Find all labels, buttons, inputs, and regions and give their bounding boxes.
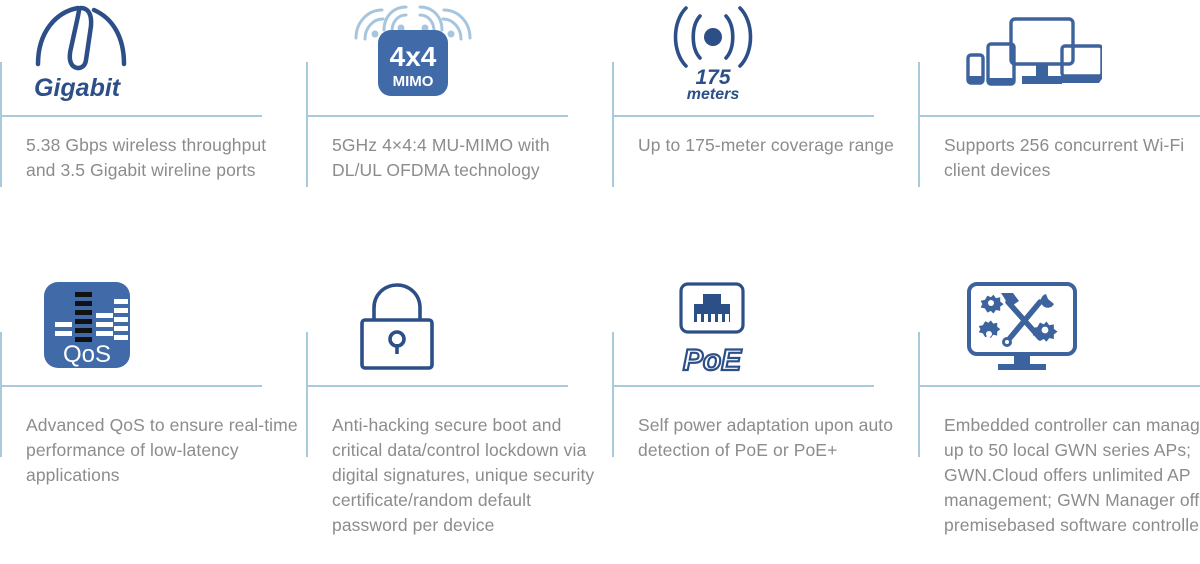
horizontal-divider <box>918 385 1200 387</box>
horizontal-divider <box>306 115 568 117</box>
feature-description: 5GHz 4×4:4 MU-MIMO with DL/UL OFDMA tech… <box>332 133 604 183</box>
feature-card-clients: Supports 256 concurrent Wi-Fi client dev… <box>918 0 1200 270</box>
wireless-coverage-icon: 175 meters <box>664 2 774 102</box>
devices-icon-wrap <box>932 0 1200 110</box>
feature-card-qos: QoS Advanced QoS to ensure real-time per… <box>0 270 300 564</box>
feature-grid: Gigabit 5.38 Gbps wireless throughput an… <box>0 0 1200 564</box>
poe-icon-label: PoE <box>683 344 742 374</box>
gigabit-icon-wrap: Gigabit <box>14 0 284 110</box>
feature-card-mimo: 4x4 MIMO 5GHz 4×4:4 MU-MIMO with DL/UL O… <box>306 0 606 270</box>
coverage-icon-sublabel: meters <box>687 86 740 102</box>
gigabit-icon: Gigabit <box>26 2 151 102</box>
feature-description: Advanced QoS to ensure real-time perform… <box>26 413 298 488</box>
vertical-divider <box>918 62 920 187</box>
feature-card-controller: Embedded controller can manage up to 50 … <box>918 270 1200 564</box>
feature-card-security: Anti-hacking secure boot and critical da… <box>306 270 606 564</box>
vertical-divider <box>612 332 614 457</box>
mimo-icon-sublabel: MIMO <box>393 73 434 90</box>
feature-description: Anti-hacking secure boot and critical da… <box>332 413 604 538</box>
mimo-icon-wrap: 4x4 MIMO <box>320 0 590 110</box>
qos-icon-wrap: QoS <box>14 270 284 370</box>
gigabit-icon-label: Gigabit <box>34 74 122 102</box>
vertical-divider <box>306 62 308 187</box>
padlock-icon-wrap <box>320 270 590 370</box>
padlock-icon <box>348 282 458 372</box>
feature-description: Up to 175-meter coverage range <box>638 133 910 158</box>
ethernet-poe-icon: PoE <box>664 282 774 374</box>
feature-description: Embedded controller can manage up to 50 … <box>944 413 1200 538</box>
four-by-four-mimo-icon: 4x4 MIMO <box>348 2 478 102</box>
vertical-divider <box>0 62 2 187</box>
vertical-divider <box>306 332 308 457</box>
horizontal-divider <box>306 385 568 387</box>
horizontal-divider <box>612 115 874 117</box>
multi-device-icon <box>962 2 1102 92</box>
horizontal-divider <box>918 115 1200 117</box>
mimo-icon-label: 4x4 <box>390 41 437 72</box>
qos-equalizer-icon: QoS <box>26 282 136 368</box>
horizontal-divider <box>0 385 262 387</box>
feature-description: Self power adaptation upon auto detectio… <box>638 413 910 463</box>
horizontal-divider <box>612 385 874 387</box>
vertical-divider <box>612 62 614 187</box>
feature-description: Supports 256 concurrent Wi-Fi client dev… <box>944 133 1200 183</box>
vertical-divider <box>918 332 920 457</box>
horizontal-divider <box>0 115 262 117</box>
coverage-icon-wrap: 175 meters <box>626 0 896 110</box>
monitor-tools-icon <box>962 282 1087 372</box>
feature-card-gigabit: Gigabit 5.38 Gbps wireless throughput an… <box>0 0 300 270</box>
feature-description: 5.38 Gbps wireless throughput and 3.5 Gi… <box>26 133 298 183</box>
vertical-divider <box>0 332 2 457</box>
qos-icon-label: QoS <box>63 341 111 368</box>
feature-card-poe: PoE Self power adaptation upon auto dete… <box>612 270 912 564</box>
controller-icon-wrap <box>932 270 1200 370</box>
feature-card-coverage: 175 meters Up to 175-meter coverage rang… <box>612 0 912 270</box>
poe-icon-wrap: PoE <box>626 270 896 370</box>
